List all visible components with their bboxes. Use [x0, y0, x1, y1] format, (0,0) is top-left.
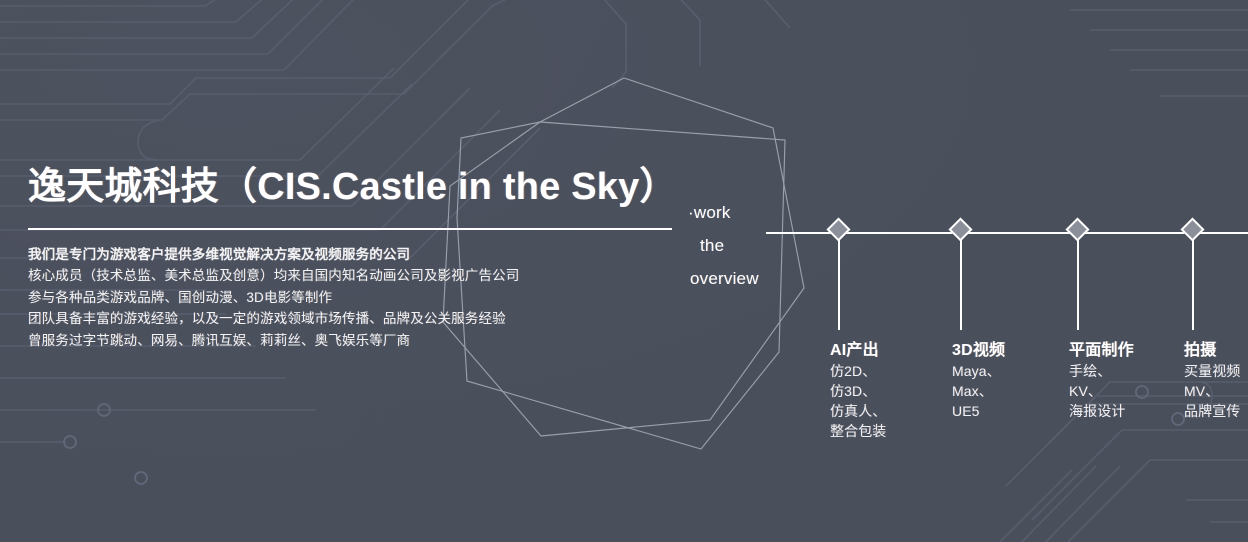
milestone-heading: 3D视频	[952, 336, 1072, 360]
intro-line: 我们是专门为游戏客户提供多维视觉解决方案及视频服务的公司	[28, 244, 688, 266]
list-item: 买量视频	[1184, 361, 1248, 381]
title-divider	[28, 228, 672, 230]
milestone-body: 拍摄 买量视频 MV、 品牌宣传	[1184, 336, 1248, 421]
intro-line: 团队具备丰富的游戏经验，以及一定的游戏领域市场传播、品牌及公关服务经验	[28, 308, 688, 330]
milestone-heading: AI产出	[830, 336, 950, 360]
list-item: 品牌宣传	[1184, 401, 1248, 421]
milestone-item-list: 手绘、 KV、 海报设计	[1069, 361, 1189, 421]
presentation-slide: 逸天城科技（CIS.Castle in the Sky） 我们是专门为游戏客户提…	[0, 0, 1248, 542]
diamond-marker-icon	[1180, 217, 1204, 241]
milestone-item-list: 买量视频 MV、 品牌宣传	[1184, 361, 1248, 421]
intro-line: 核心成员（技术总监、美术总监及创意）均来自国内知名动画公司及影视广告公司	[28, 265, 688, 287]
list-item: 海报设计	[1069, 401, 1189, 421]
milestone-heading: 平面制作	[1069, 336, 1189, 360]
list-item: 整合包装	[830, 421, 950, 441]
milestone-body: AI产出 仿2D、 仿3D、 仿真人、 整合包装	[830, 336, 950, 441]
milestone-body: 3D视频 Maya、 Max、 UE5	[952, 336, 1072, 421]
list-item: Maya、	[952, 361, 1072, 381]
company-intro-block: 逸天城科技（CIS.Castle in the Sky） 我们是专门为游戏客户提…	[28, 166, 688, 351]
list-item: UE5	[952, 401, 1072, 421]
milestone-item-list: 仿2D、 仿3D、 仿真人、 整合包装	[830, 361, 950, 441]
diamond-marker-icon	[1065, 217, 1089, 241]
list-item: MV、	[1184, 381, 1248, 401]
milestone-connector	[960, 240, 962, 330]
list-item: Max、	[952, 381, 1072, 401]
milestone-connector	[1192, 240, 1194, 330]
intro-line: 曾服务过字节跳动、网易、腾讯互娱、莉莉丝、奥飞娱乐等厂商	[28, 330, 688, 352]
intro-line: 参与各种品类游戏品牌、国创动漫、3D电影等制作	[28, 287, 688, 309]
list-item: 仿2D、	[830, 361, 950, 381]
diamond-marker-icon	[826, 217, 850, 241]
milestone-connector	[838, 240, 840, 330]
milestone-body: 平面制作 手绘、 KV、 海报设计	[1069, 336, 1189, 421]
company-intro-list: 我们是专门为游戏客户提供多维视觉解决方案及视频服务的公司 核心成员（技术总监、美…	[28, 244, 688, 352]
milestone-heading: 拍摄	[1184, 336, 1248, 360]
list-item: KV、	[1069, 381, 1189, 401]
milestone-connector	[1077, 240, 1079, 330]
page-title: 逸天城科技（CIS.Castle in the Sky）	[28, 166, 688, 209]
list-item: 手绘、	[1069, 361, 1189, 381]
milestone-item-list: Maya、 Max、 UE5	[952, 361, 1072, 421]
diamond-marker-icon	[948, 217, 972, 241]
services-timeline: AI产出 仿2D、 仿3D、 仿真人、 整合包装 3D视频 Maya、 Max、…	[766, 0, 1248, 542]
list-item: 仿3D、	[830, 381, 950, 401]
list-item: 仿真人、	[830, 401, 950, 421]
